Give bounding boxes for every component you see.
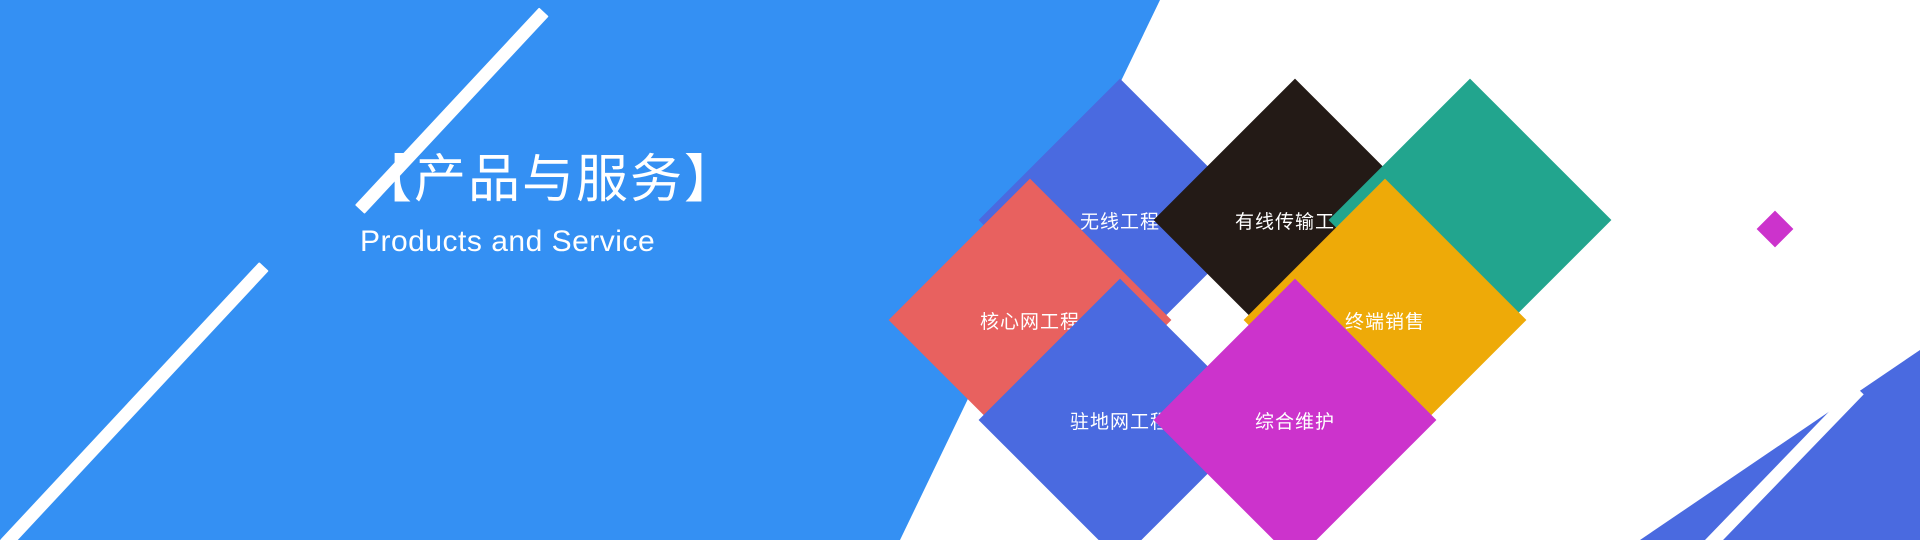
product-service-banner: 【产品与服务】 Products and Service 无线工程 有线传输工程… (0, 0, 1920, 540)
page-title: 【产品与服务】 (360, 150, 980, 211)
corner-triangle (1640, 350, 1920, 540)
accent-diamond-icon (1757, 211, 1794, 248)
service-tile-label: 综合维护 (1195, 320, 1395, 520)
headline-block: 【产品与服务】 Products and Service (360, 150, 980, 259)
page-subtitle: Products and Service (360, 225, 980, 259)
